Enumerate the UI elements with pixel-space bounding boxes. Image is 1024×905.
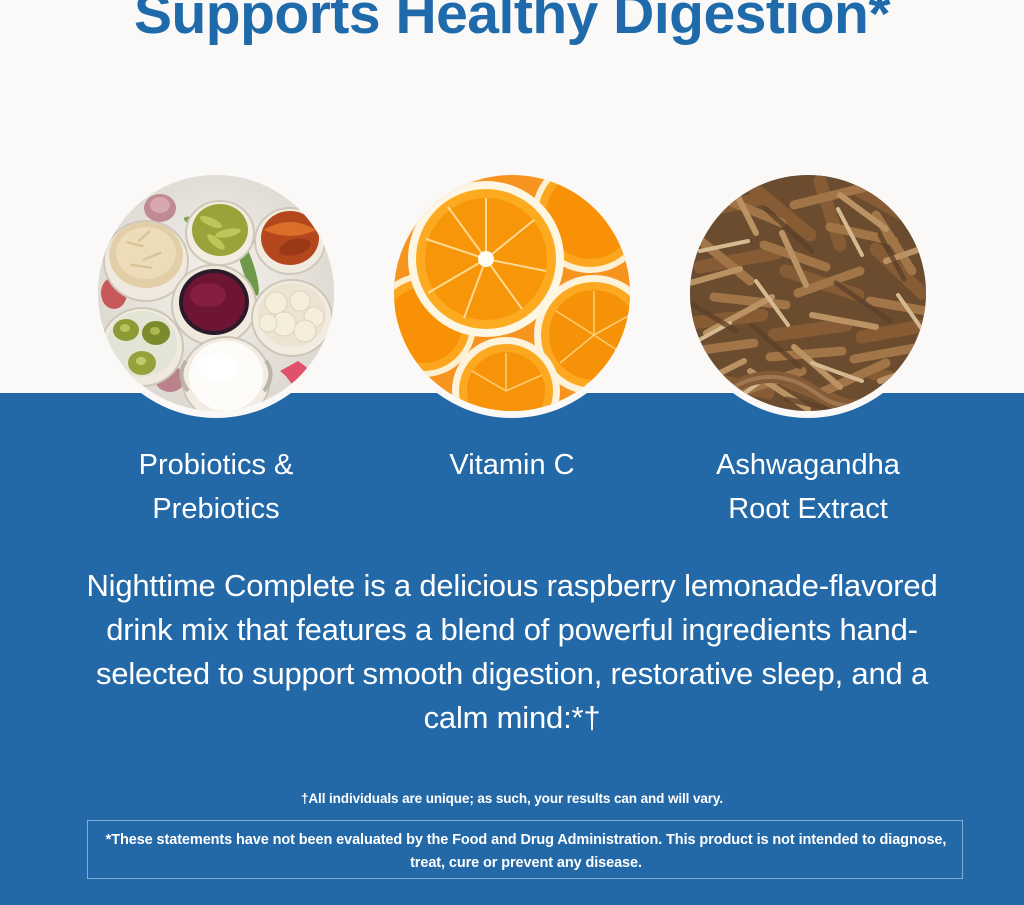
ingredient-label-line1: Vitamin C: [394, 443, 630, 487]
marketing-panel: Supports Healthy Digestion*: [0, 0, 1024, 905]
ingredient-label-probiotics-prebiotics: Probiotics & Prebiotics: [98, 443, 334, 531]
ingredient-label-line2: Root Extract: [690, 487, 926, 531]
page-title: Supports Healthy Digestion*: [0, 0, 1024, 48]
ingredient-label-vitamin-c: Vitamin C: [394, 443, 630, 531]
ingredient-circle-probiotics-prebiotics: [98, 175, 334, 411]
ingredient-circles-row: [0, 175, 1024, 415]
ingredient-label-ashwagandha: Ashwagandha Root Extract: [690, 443, 926, 531]
orange-slices-photo: [394, 175, 630, 411]
ingredient-label-line1: Ashwagandha: [690, 443, 926, 487]
ingredient-label-line2: Prebiotics: [98, 487, 334, 531]
ashwagandha-roots-photo: [690, 175, 926, 411]
individual-results-footnote: †All individuals are unique; as such, yo…: [0, 790, 1024, 808]
fda-disclaimer-box: *These statements have not been evaluate…: [87, 820, 963, 879]
product-description: Nighttime Complete is a delicious raspbe…: [62, 564, 962, 740]
ingredient-circle-ashwagandha: [690, 175, 926, 411]
ingredient-circle-vitamin-c: [394, 175, 630, 411]
fda-disclaimer-text: *These statements have not been evaluate…: [102, 829, 950, 875]
ingredient-labels-row: Probiotics & Prebiotics Vitamin C Ashwag…: [0, 443, 1024, 531]
fermented-foods-jars-photo: [98, 175, 334, 411]
ingredient-label-line1: Probiotics &: [98, 443, 334, 487]
